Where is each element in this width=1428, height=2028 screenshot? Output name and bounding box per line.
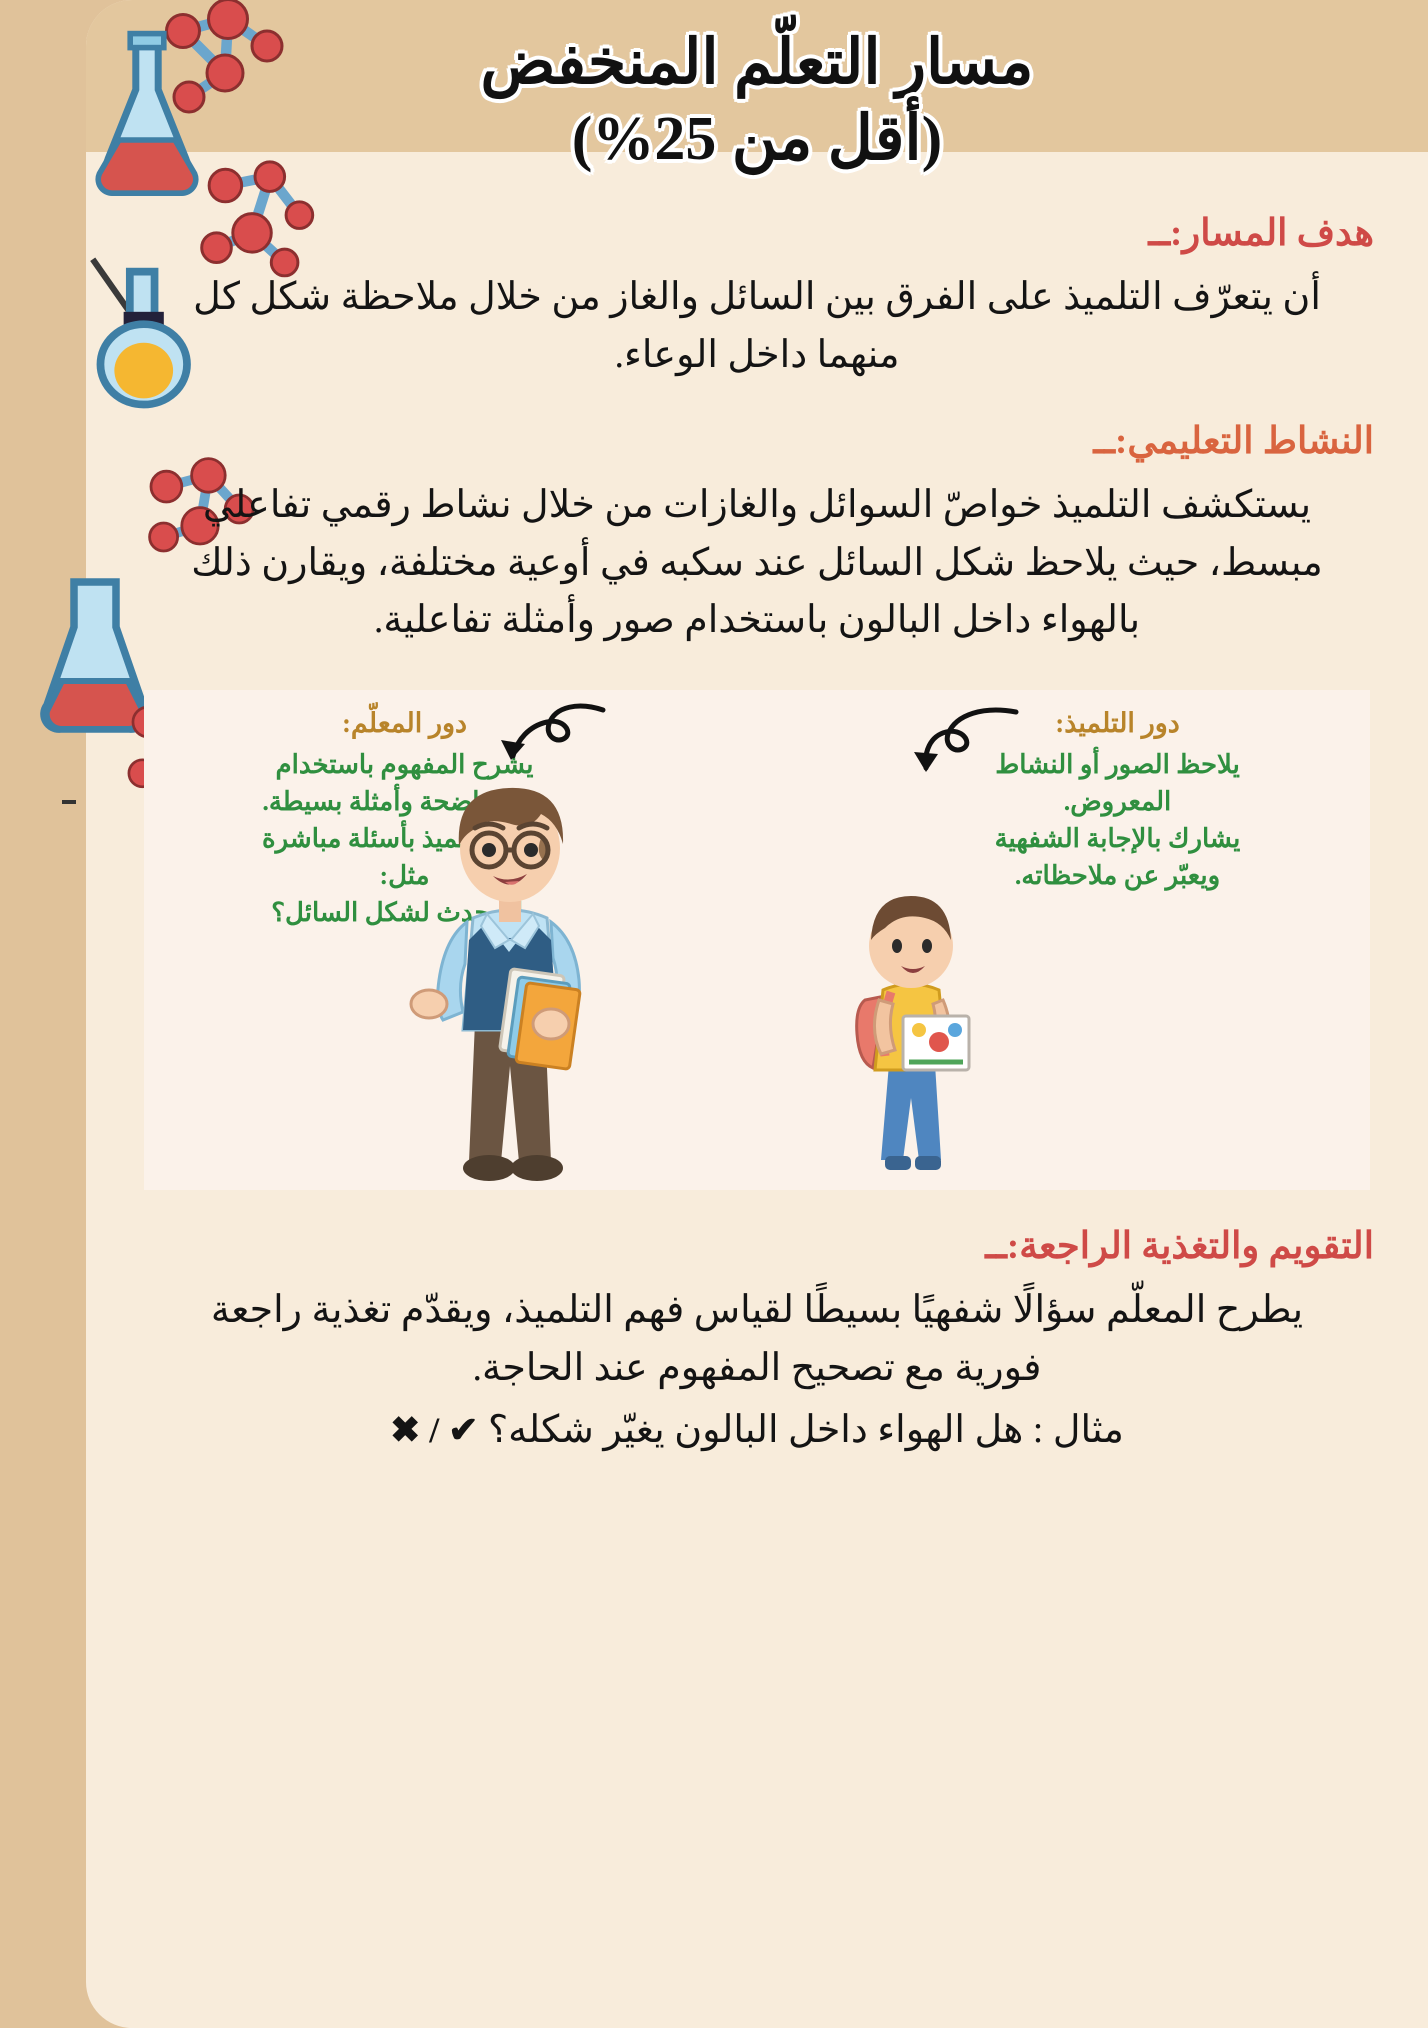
- assessment-example-marks: ✔ / ✖: [390, 1410, 478, 1450]
- decor-tick: [62, 800, 76, 804]
- roles-panel: دور التلميذ: يلاحظ الصور أو النشاط المعر…: [144, 690, 1370, 1190]
- role-student-line-2: المعروض.: [881, 784, 1354, 821]
- content-card: مسار التعلّم المنخفض (أقل من 25%) هدف ال…: [86, 0, 1428, 2028]
- left-decor-strip: [0, 0, 86, 2028]
- student-illustration: [831, 850, 991, 1180]
- assessment-example-text: مثال : هل الهواء داخل البالون يغيّر شكله…: [478, 1409, 1123, 1451]
- curved-arrow-icon: [904, 704, 1024, 780]
- section-assessment: التقويم والتغذية الراجعة:ــ يطرح المعلّم…: [140, 1224, 1374, 1459]
- title-line-2: (أقل من 25%): [140, 102, 1374, 178]
- content-inner: مسار التعلّم المنخفض (أقل من 25%) هدف ال…: [86, 0, 1428, 2028]
- section-assessment-body: يطرح المعلّم سؤالًا شفهيًا بسيطًا لقياس …: [140, 1282, 1374, 1398]
- title-line-1: مسار التعلّم المنخفض: [140, 26, 1374, 102]
- page-title: مسار التعلّم المنخفض (أقل من 25%): [140, 26, 1374, 177]
- teacher-illustration: [401, 754, 616, 1184]
- assessment-example: مثال : هل الهواء داخل البالون يغيّر شكله…: [140, 1402, 1374, 1459]
- role-teacher: دور المعلّم: يشرح المفهوم باستخدام صور و…: [144, 690, 757, 1190]
- section-activity: النشاط التعليمي:ــ يستكشف التلميذ خواصّ …: [140, 419, 1374, 650]
- section-activity-heading: النشاط التعليمي:ــ: [140, 419, 1374, 463]
- section-goal: هدف المسار:ــ أن يتعرّف التلميذ على الفر…: [140, 211, 1374, 385]
- section-activity-body: يستكشف التلميذ خواصّ السوائل والغازات من…: [140, 477, 1374, 650]
- poster-page: مسار التعلّم المنخفض (أقل من 25%) هدف ال…: [0, 0, 1428, 2028]
- role-student: دور التلميذ: يلاحظ الصور أو النشاط المعر…: [757, 690, 1370, 1190]
- section-assessment-heading: التقويم والتغذية الراجعة:ــ: [140, 1224, 1374, 1268]
- section-goal-heading: هدف المسار:ــ: [140, 211, 1374, 255]
- section-goal-body: أن يتعرّف التلميذ على الفرق بين السائل و…: [140, 269, 1374, 385]
